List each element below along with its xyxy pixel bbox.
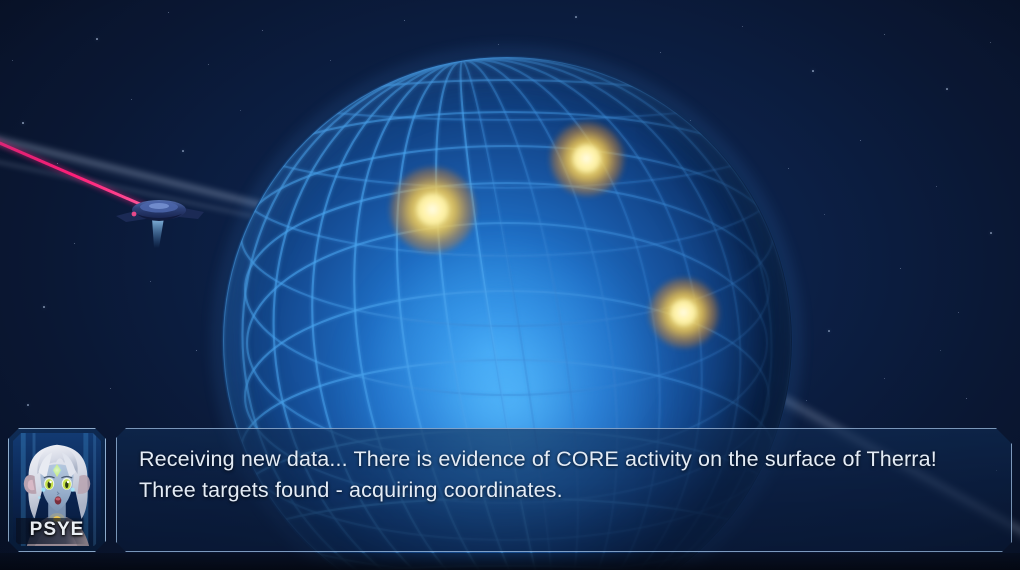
star (22, 122, 24, 124)
star (990, 232, 992, 234)
target-marker[interactable] (550, 122, 624, 196)
dialogue-bar[interactable]: PSYE Receiving new data... There is evid… (8, 428, 1012, 558)
star (262, 30, 263, 31)
star (828, 330, 830, 332)
star (196, 350, 197, 351)
star (498, 44, 499, 45)
star (900, 268, 901, 269)
star (940, 350, 941, 351)
star (860, 140, 861, 141)
star (690, 120, 691, 121)
star (74, 243, 75, 244)
star (812, 70, 814, 72)
dialogue-textbox[interactable]: Receiving new data... There is evidence … (116, 428, 1012, 552)
target-marker[interactable] (649, 278, 719, 348)
star (27, 404, 29, 406)
star (330, 60, 331, 61)
speaker-portrait: PSYE (13, 433, 101, 547)
star (240, 110, 241, 111)
target-marker-core (671, 300, 696, 325)
star (990, 42, 991, 43)
star (168, 12, 169, 13)
star (884, 378, 885, 379)
star (884, 34, 885, 35)
star (936, 186, 937, 187)
star (824, 214, 825, 215)
star (966, 398, 967, 399)
star (57, 163, 58, 164)
dialogue-text: Receiving new data... There is evidence … (139, 444, 989, 506)
player-ship-icon (112, 188, 208, 250)
star (958, 312, 959, 313)
star (43, 306, 45, 308)
star (660, 52, 661, 53)
star (806, 400, 807, 401)
target-marker-core (573, 145, 600, 172)
star (150, 281, 151, 282)
star (788, 168, 789, 169)
speaker-name-label: PSYE (13, 519, 101, 541)
star (182, 150, 184, 152)
star (96, 38, 98, 40)
star (575, 16, 577, 18)
star (110, 388, 111, 389)
star (404, 20, 405, 21)
star (12, 60, 13, 61)
star (131, 99, 132, 100)
target-marker[interactable] (390, 167, 476, 253)
target-marker-core (417, 194, 448, 225)
star (208, 64, 209, 65)
star (946, 88, 948, 90)
star (742, 26, 743, 27)
speaker-portrait-frame[interactable]: PSYE (8, 428, 106, 552)
star (760, 290, 761, 291)
game-scene: PSYE Receiving new data... There is evid… (0, 0, 1020, 570)
